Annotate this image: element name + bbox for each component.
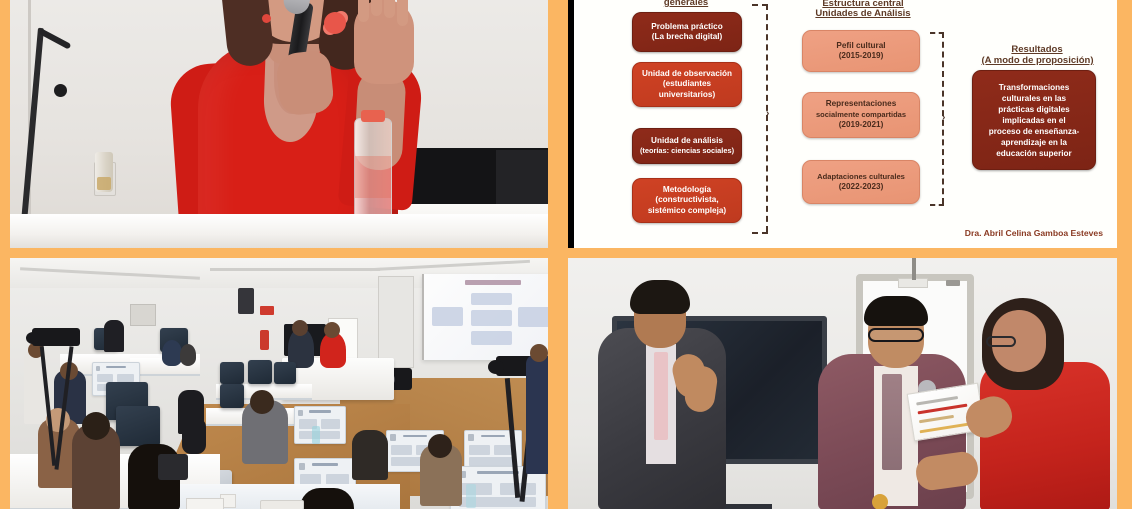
box-line: Metodología: [648, 185, 726, 196]
box-line: (2019-2021): [816, 120, 906, 131]
box-line: Unidad de observación: [642, 69, 732, 80]
box-line: (estudiantes: [642, 79, 732, 90]
water-bottle-label: [355, 156, 391, 198]
poster-board: [294, 406, 346, 444]
box-line: Pefil cultural: [836, 41, 885, 52]
microphone-stand-knob: [54, 84, 67, 97]
water-bottle-cap: [361, 110, 385, 122]
diagram-box-perfil-cultural: Pefil cultural (2015-2019): [802, 30, 920, 72]
box-line: universitarios): [642, 90, 732, 101]
box-line: Representaciones: [816, 99, 906, 110]
imac-monitor: [248, 360, 272, 384]
box-line: socialmente compartidas: [816, 110, 906, 121]
box-line: (2015-2019): [836, 51, 885, 62]
flower-accessory: [324, 12, 346, 34]
box-line: educación superior: [989, 148, 1080, 159]
box-line: (La brecha digital): [651, 32, 722, 43]
seated-attendee: [300, 488, 354, 509]
imac-monitor: [220, 384, 244, 408]
keyboard: [260, 500, 304, 509]
jar-object: [95, 152, 113, 192]
raised-hand: [354, 0, 414, 84]
diagram-box-problema-practico: Problema práctico (La brecha digital): [632, 12, 742, 52]
box-line: Problema práctico: [651, 22, 722, 33]
left-brace-top-tick: [752, 4, 768, 6]
diagram-box-representaciones: Representaciones socialmente compartidas…: [802, 92, 920, 138]
imac-monitor: [116, 406, 160, 446]
slide-content: generales Problema práctico (La brecha d…: [574, 0, 1117, 248]
box-line: (2022-2023): [817, 182, 905, 193]
water-bottle: [312, 426, 320, 444]
camera-lens: [26, 332, 40, 344]
applauding-man-hair: [630, 280, 690, 314]
diagram-box-unidad-observacion: Unidad de observación (estudiantes unive…: [632, 62, 742, 107]
whiteboard-rod: [912, 258, 916, 280]
research-diagram-slide: generales Problema práctico (La brecha d…: [568, 0, 1117, 248]
seated-attendee: [180, 344, 196, 366]
projected-slide-title: [465, 280, 520, 285]
diagram-box-metodologia: Metodología (constructivista, sistémico …: [632, 178, 742, 223]
eyeglasses: [868, 328, 924, 342]
box-line: sistémico compleja): [648, 206, 726, 217]
certificate-photo: [568, 258, 1117, 509]
diagram-box-resultados: Transformaciones culturales en las práct…: [972, 70, 1096, 170]
notebook: [186, 498, 224, 509]
exit-sign: [260, 306, 274, 315]
projection-screen-frame: [378, 276, 414, 368]
small-object: [872, 494, 888, 509]
box-line: culturales en las: [989, 93, 1080, 104]
photo-collage: generales Problema práctico (La brecha d…: [0, 0, 1132, 509]
imac-monitor: [274, 362, 296, 384]
honoree-hair: [864, 296, 928, 326]
bag: [158, 454, 188, 480]
right-column-heading-line1: Resultados: [962, 44, 1112, 55]
box-line: (constructivista,: [648, 195, 726, 206]
speaker-photo: [10, 0, 548, 248]
necktie: [654, 352, 668, 440]
box-line: proceso de enseñanza-: [989, 126, 1080, 137]
left-brace-bottom-tick: [752, 232, 768, 234]
attendee-head: [428, 434, 452, 458]
standing-attendee: [104, 320, 124, 352]
left-brace-arrow: ›: [766, 108, 769, 119]
box-line: implicadas en el: [989, 115, 1080, 126]
box-line: (teorías: ciencias sociales): [640, 146, 734, 157]
imac-monitor: [220, 362, 244, 384]
middle-brace-bottom-tick: [930, 204, 944, 206]
box-line: prácticas digitales: [989, 104, 1080, 115]
seated-attendee: [352, 430, 388, 480]
attendee-head: [82, 412, 110, 440]
earring: [262, 14, 271, 23]
seated-attendee: [162, 340, 182, 366]
slide-canvas: generales Problema práctico (La brecha d…: [568, 0, 1117, 248]
box-line: Transformaciones: [989, 82, 1080, 93]
panel-table: [10, 214, 548, 248]
chair: [182, 418, 206, 454]
auditorium-photo: [10, 258, 548, 509]
ceiling-beam: [210, 268, 380, 271]
attendee-head: [250, 390, 274, 414]
camera-lens: [488, 360, 504, 374]
box-line: aprendizaje en la: [989, 137, 1080, 148]
whiteboard-tag: [946, 280, 960, 286]
speaker-figure: [158, 0, 426, 248]
slide-author-credit: Dra. Abril Celina Gamboa Esteves: [965, 228, 1103, 238]
left-column-heading: generales: [626, 0, 746, 8]
middle-brace-top-tick: [930, 32, 944, 34]
eyeglasses: [986, 336, 1016, 347]
box-line: Adaptaciones culturales: [817, 172, 905, 183]
camera-operator: [526, 354, 548, 474]
microphone-hand: [275, 49, 335, 116]
water-bottle: [466, 484, 476, 508]
fire-extinguisher: [260, 330, 269, 350]
diagram-box-adaptaciones: Adaptaciones culturales (2022-2023): [802, 160, 920, 204]
right-column-heading-line2: (A modo de proposición): [960, 55, 1115, 66]
wall-speaker: [238, 288, 254, 314]
wall-poster: [130, 304, 156, 326]
camera-operator-head: [530, 344, 548, 362]
projection-screen: [422, 274, 548, 360]
diagram-box-unidad-analisis: Unidad de análisis (teorías: ciencias so…: [632, 128, 742, 164]
box-line: Unidad de análisis: [640, 136, 734, 147]
patterned-necktie: [882, 374, 902, 470]
middle-column-heading-line2: Unidades de Análisis: [788, 8, 938, 19]
presenter-head: [324, 322, 340, 338]
presenter-head: [292, 320, 308, 336]
middle-brace-arrow: ›: [942, 112, 945, 123]
